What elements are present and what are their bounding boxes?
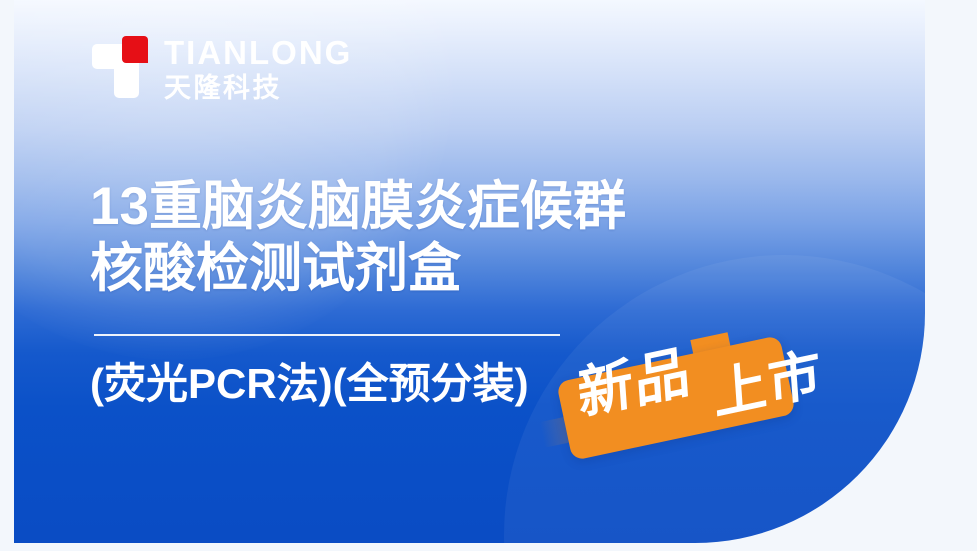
tianlong-t-mark-icon	[92, 36, 148, 98]
headline-line-2: 核酸检测试剂盒	[90, 238, 626, 300]
new-product-badge: 新品 上市	[534, 330, 925, 500]
headline-divider	[94, 334, 560, 336]
headline-line-1: 13重脑炎脑膜炎症候群	[90, 176, 626, 238]
brand-name-cn: 天隆科技	[164, 72, 352, 104]
logo-mark-red-block	[122, 36, 148, 63]
brand-logo: TIANLONG 天隆科技	[92, 36, 352, 104]
subtitle: (荧光PCR法)(全预分装)	[90, 358, 529, 410]
headline: 13重脑炎脑膜炎症候群 核酸检测试剂盒	[90, 176, 626, 300]
product-launch-banner: TIANLONG 天隆科技 13重脑炎脑膜炎症候群 核酸检测试剂盒 (荧光PCR…	[0, 0, 977, 551]
banner-card: TIANLONG 天隆科技 13重脑炎脑膜炎症候群 核酸检测试剂盒 (荧光PCR…	[14, 0, 925, 543]
brand-name-en: TIANLONG	[164, 36, 352, 70]
brand-name-group: TIANLONG 天隆科技	[164, 36, 352, 104]
